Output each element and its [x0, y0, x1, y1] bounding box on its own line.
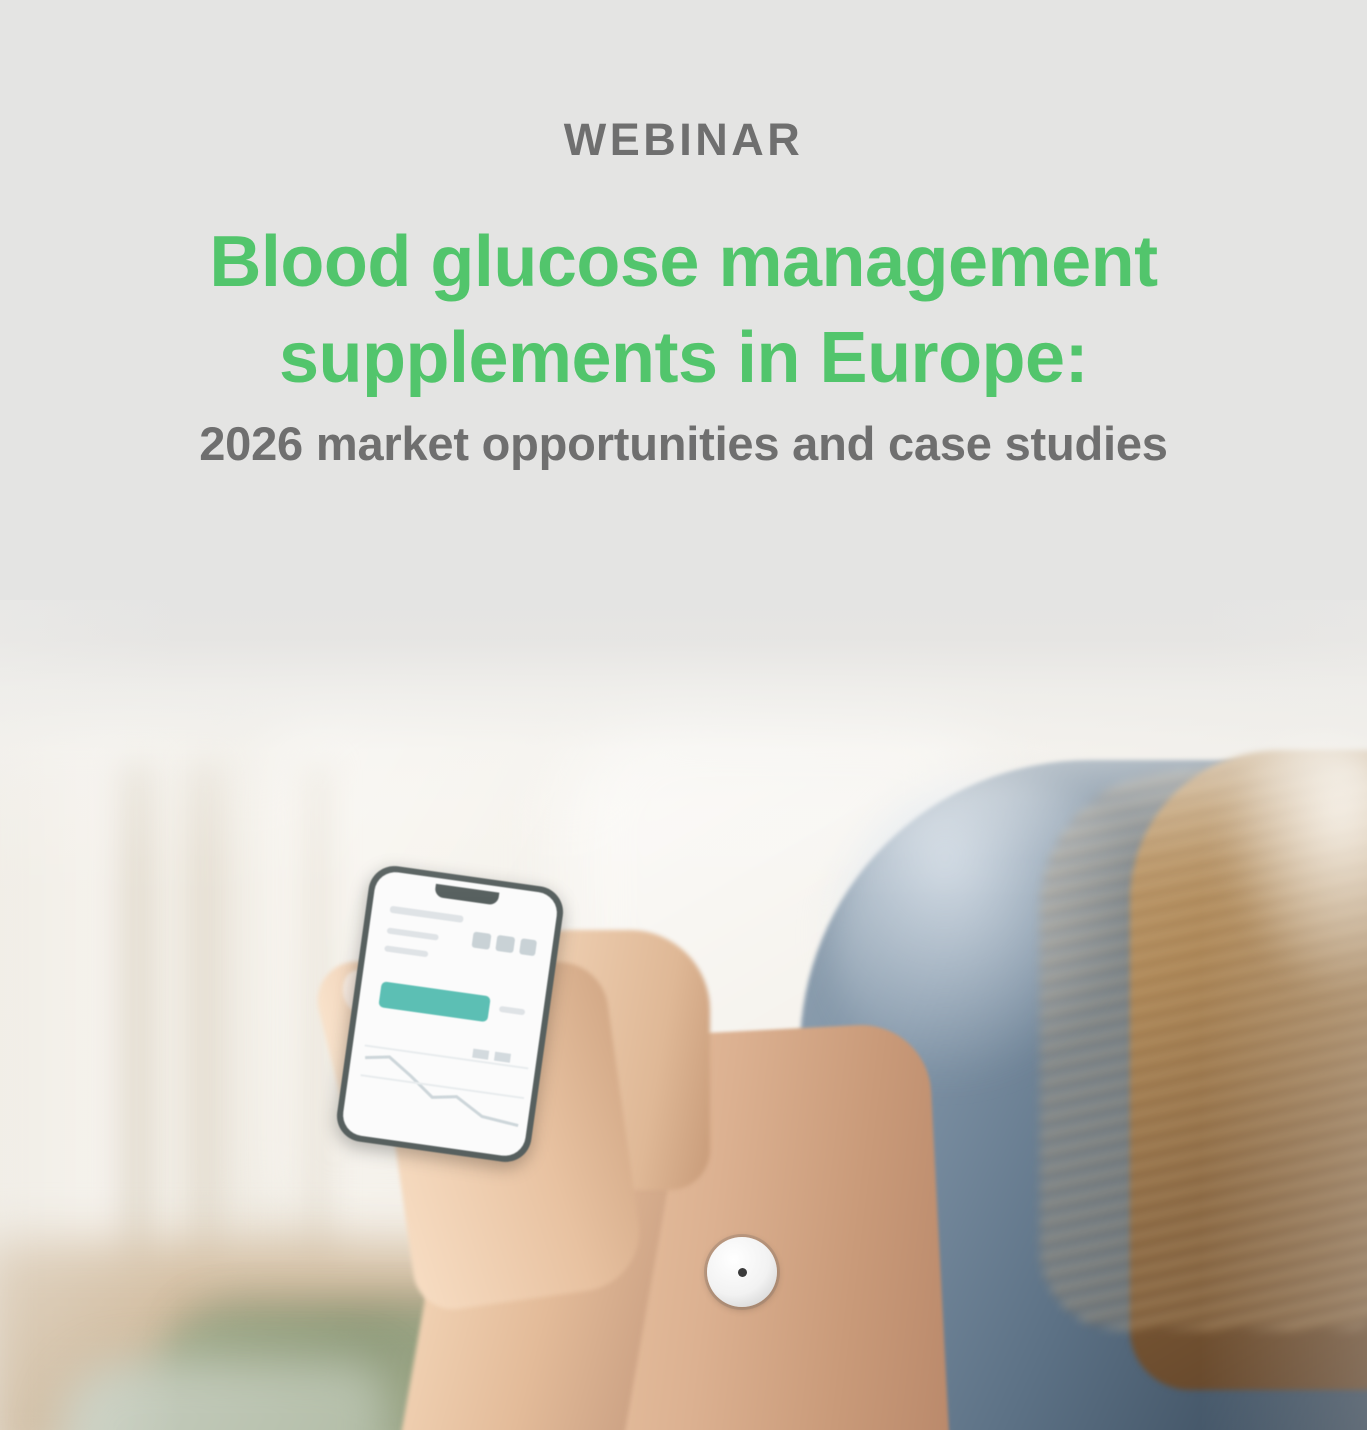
photo-scene — [0, 600, 1367, 1430]
page-subtitle: 2026 market opportunities and case studi… — [0, 418, 1367, 470]
app-text-line — [387, 927, 439, 940]
app-text-line — [499, 1006, 526, 1016]
blanket-fold — [60, 1360, 390, 1430]
phone-screen — [340, 869, 559, 1158]
page-title-line-2: supplements in Europe: — [0, 311, 1367, 407]
app-text-line — [390, 906, 464, 923]
phone-notch — [434, 884, 499, 906]
app-stat — [471, 931, 491, 949]
app-text-line — [384, 945, 428, 957]
header-block: WEBINAR Blood glucose management supplem… — [0, 0, 1367, 720]
page-title-line-1: Blood glucose management — [209, 222, 1157, 302]
cushion-stripe — [120, 760, 154, 1280]
app-stat — [519, 938, 537, 956]
page-title: Blood glucose management supplements in … — [0, 215, 1367, 407]
webinar-promo-banner: WEBINAR Blood glucose management supplem… — [0, 0, 1367, 1430]
hero-photo — [0, 600, 1367, 1430]
app-primary-button — [378, 981, 491, 1022]
smartphone — [334, 863, 567, 1166]
cushion-stripe — [188, 760, 222, 1280]
cgm-sensor — [707, 1237, 777, 1307]
app-glucose-chart — [354, 1030, 530, 1142]
eyebrow-label: WEBINAR — [0, 117, 1367, 162]
app-stat — [495, 935, 515, 953]
